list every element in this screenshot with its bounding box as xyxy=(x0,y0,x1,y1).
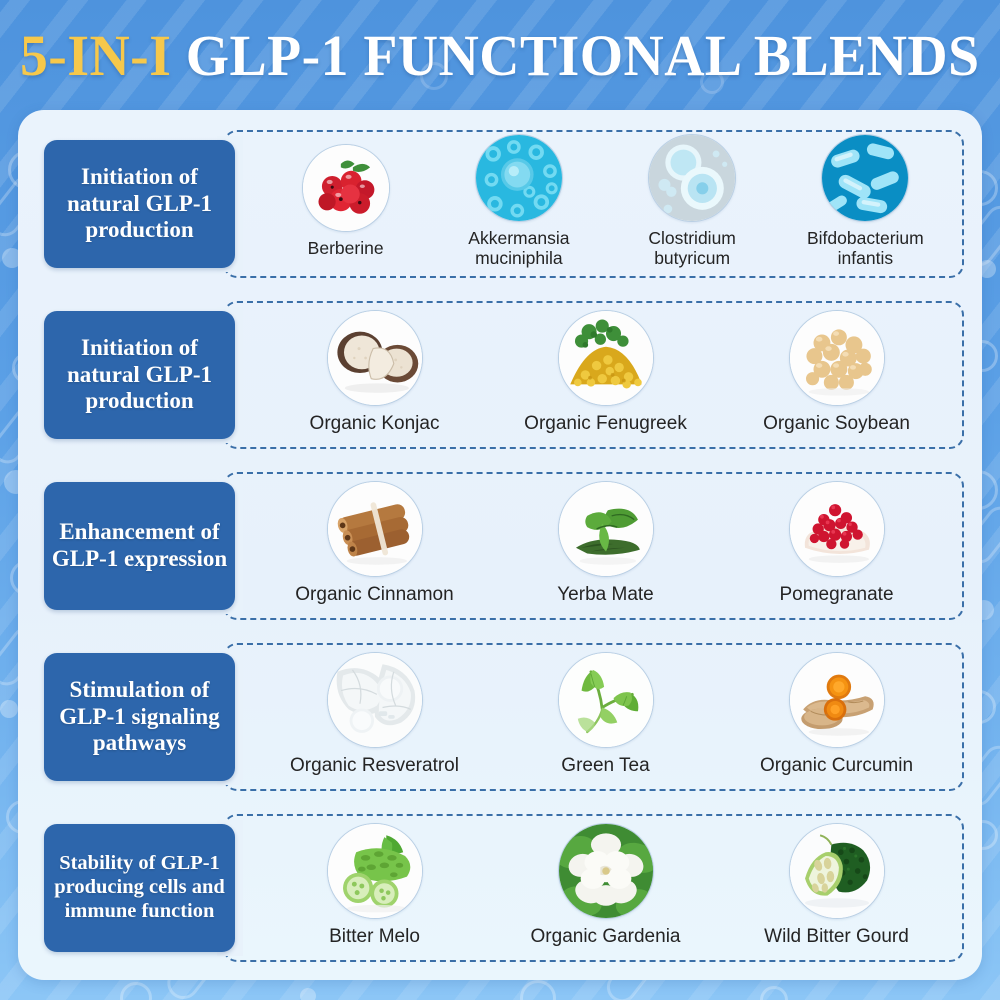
soybean-icon xyxy=(789,310,885,406)
ingredient-name: Organic Konjac xyxy=(310,413,440,434)
ingredient-item[interactable]: Clostridium butyricum xyxy=(617,134,767,268)
ingredient-name: Yerba Mate xyxy=(557,584,653,605)
infographic-poster: 5-IN-I GLP-1 FUNCTIONAL BLENDS Initiatio… xyxy=(0,0,1000,1000)
ingredient-item[interactable]: Organic Fenugreek xyxy=(521,310,691,434)
resveratrol-crystals-icon xyxy=(327,652,423,748)
yerba-mate-leaves-icon xyxy=(558,481,654,577)
berberine-berries-icon xyxy=(302,144,390,232)
fenugreek-seeds-icon xyxy=(558,310,654,406)
curcumin-turmeric-icon xyxy=(789,652,885,748)
row-label-box: Initiation of natural GLP-1 production xyxy=(44,140,235,268)
gardenia-flower-icon xyxy=(558,823,654,919)
ingredient-name: Clostridium butyricum xyxy=(648,229,736,268)
akkermansia-microbe-icon xyxy=(475,134,563,222)
ingredient-item[interactable]: Wild Bitter Gourd xyxy=(752,823,922,947)
blends-card: Initiation of natural GLP-1 production xyxy=(18,110,982,980)
ingredient-name: Organic Gardenia xyxy=(531,926,681,947)
ingredient-name: Green Tea xyxy=(561,755,649,776)
ingredient-name: Pomegranate xyxy=(779,584,893,605)
title-highlight: 5-IN-I xyxy=(20,23,171,88)
ingredient-name: Wild Bitter Gourd xyxy=(764,926,909,947)
row-label-box: Initiation of natural GLP-1 production xyxy=(44,311,235,439)
ingredient-item[interactable]: Akkermansia muciniphila xyxy=(444,134,594,268)
cinnamon-sticks-icon xyxy=(327,481,423,577)
row-label-text: Enhancement of GLP-1 expression xyxy=(44,515,235,577)
ingredient-item[interactable]: Green Tea xyxy=(521,652,691,776)
bifidobacterium-microbe-icon xyxy=(821,134,909,222)
ingredient-item[interactable]: Organic Konjac xyxy=(290,310,460,434)
row-label-text: Stimulation of GLP-1 signaling pathways xyxy=(44,673,235,762)
title-rest: GLP-1 FUNCTIONAL BLENDS xyxy=(186,23,980,88)
wild-bitter-gourd-icon xyxy=(789,823,885,919)
blend-row: Stimulation of GLP-1 signaling pathways xyxy=(31,635,968,795)
ingredient-item[interactable]: Yerba Mate xyxy=(521,481,691,605)
ingredient-item[interactable]: Pomegranate xyxy=(752,481,922,605)
ingredient-item[interactable]: Bifdobacterium infantis xyxy=(790,134,940,268)
ingredient-name: Organic Cinnamon xyxy=(295,584,453,605)
ingredient-name: Organic Resveratrol xyxy=(290,755,459,776)
blend-rows: Initiation of natural GLP-1 production xyxy=(18,110,982,980)
ingredient-name: Organic Curcumin xyxy=(760,755,913,776)
blend-row: Initiation of natural GLP-1 production xyxy=(31,293,968,453)
ingredient-item[interactable]: Organic Curcumin xyxy=(752,652,922,776)
ingredient-item[interactable]: Bitter Melo xyxy=(290,823,460,947)
ingredient-name: Bifdobacterium infantis xyxy=(807,229,924,268)
row-label-box: Stimulation of GLP-1 signaling pathways xyxy=(44,653,235,781)
row-label-text: Initiation of natural GLP-1 production xyxy=(44,331,235,420)
poster-header: 5-IN-I GLP-1 FUNCTIONAL BLENDS xyxy=(0,0,1000,112)
row-items: Organic Cinnamon xyxy=(235,464,968,624)
ingredient-name: Organic Fenugreek xyxy=(524,413,687,434)
green-tea-leaf-icon xyxy=(558,652,654,748)
row-items: Berberine xyxy=(235,122,968,282)
ingredient-name: Organic Soybean xyxy=(763,413,910,434)
row-items: Bitter Melo xyxy=(235,806,968,966)
ingredient-item[interactable]: Organic Soybean xyxy=(752,310,922,434)
pomegranate-icon xyxy=(789,481,885,577)
blend-row: Enhancement of GLP-1 expression xyxy=(31,464,968,624)
ingredient-item[interactable]: Organic Gardenia xyxy=(521,823,691,947)
row-label-text: Initiation of natural GLP-1 production xyxy=(44,160,235,249)
blend-row: Stability of GLP-1 producing cells and i… xyxy=(31,806,968,966)
konjac-root-icon xyxy=(327,310,423,406)
ingredient-name: Bitter Melo xyxy=(329,926,420,947)
row-label-text: Stability of GLP-1 producing cells and i… xyxy=(44,848,235,927)
bitter-melon-icon xyxy=(327,823,423,919)
row-items: Organic Resveratrol xyxy=(235,635,968,795)
ingredient-name: Berberine xyxy=(308,239,384,259)
blend-row: Initiation of natural GLP-1 production xyxy=(31,122,968,282)
clostridium-microbe-icon xyxy=(648,134,736,222)
row-label-box: Enhancement of GLP-1 expression xyxy=(44,482,235,610)
ingredient-name: Akkermansia muciniphila xyxy=(468,229,569,268)
row-label-box: Stability of GLP-1 producing cells and i… xyxy=(44,824,235,952)
ingredient-item[interactable]: Organic Resveratrol xyxy=(290,652,460,776)
row-items: Organic Konjac xyxy=(235,293,968,453)
page-title: 5-IN-I GLP-1 FUNCTIONAL BLENDS xyxy=(20,27,980,85)
ingredient-item[interactable]: Berberine xyxy=(271,144,421,259)
ingredient-item[interactable]: Organic Cinnamon xyxy=(290,481,460,605)
